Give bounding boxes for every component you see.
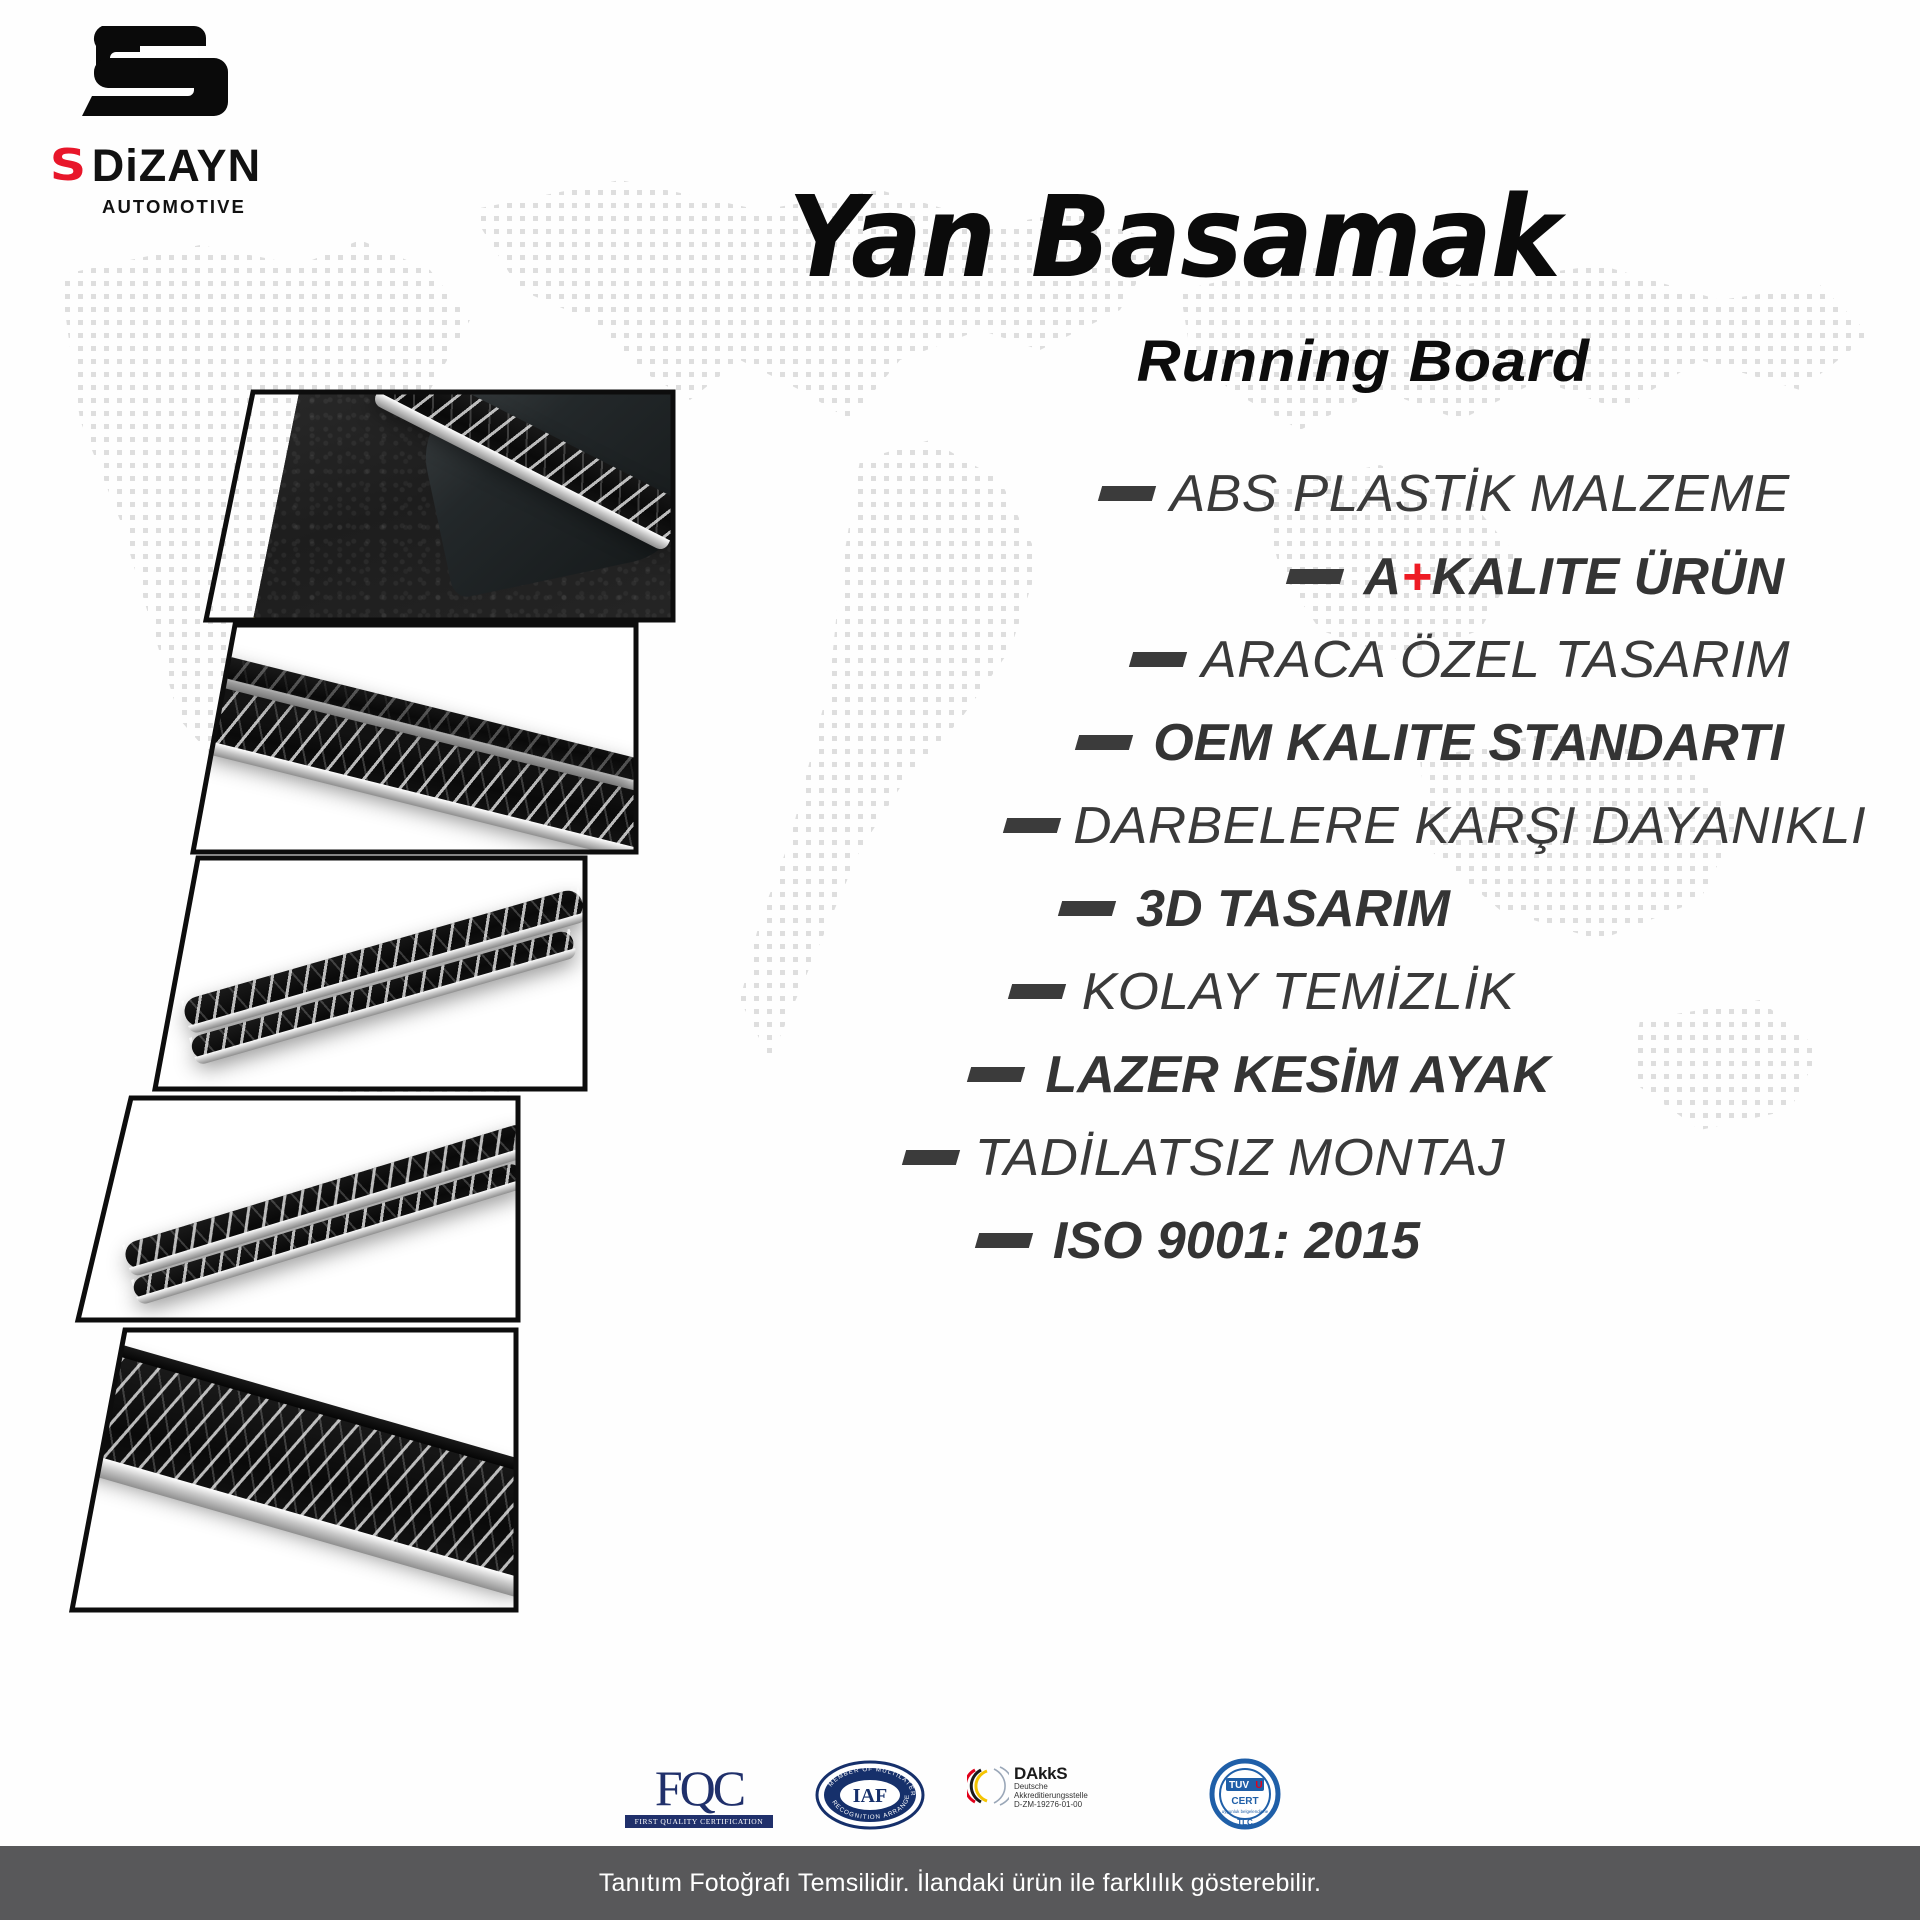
dakks-certification-logo: DAkkS Deutsche Akkreditierungsstelle D-Z… [967,1764,1157,1826]
feature-item: A+KALITE ÜRÜN [0,535,1880,618]
fqc-letters: FQC [625,1763,773,1813]
svg-text:CERT: CERT [1231,1796,1258,1807]
brand-s-letter: S [50,144,84,188]
svg-text:uygunluk belgelendirme: uygunluk belgelendirme [1222,1809,1269,1814]
feature-label: OEM KALITE STANDARTI [1153,717,1784,769]
feature-item: KOLAY TEMİZLİK [0,950,1880,1033]
dakks-letters: DAkkS [1014,1764,1088,1783]
svg-text:IAF: IAF [853,1785,887,1807]
svg-text:TUV: TUV [1229,1780,1249,1791]
dakks-line3: D-ZM-19276-01-00 [1014,1801,1088,1810]
bullet-dash-icon [1008,984,1066,999]
bullet-dash-icon [1129,652,1187,667]
fqc-caption: FIRST QUALITY CERTIFICATION [625,1815,773,1828]
tuv-certification-logo: TUV U CERT uygunluk belgelendirme TLC [1199,1758,1295,1832]
page-subtitle: Running Board [0,333,1590,391]
svg-text:U: U [1255,1780,1262,1791]
feature-item: DARBELERE KARŞI DAYANIKLI [0,784,1880,867]
bullet-dash-icon [1285,569,1343,584]
feature-label: DARBELERE KARŞI DAYANIKLI [1073,800,1866,852]
certification-logos: FQC FIRST QUALITY CERTIFICATION IAF MEMB… [0,1758,1920,1832]
feature-item: LAZER KESİM AYAK [0,1033,1880,1116]
plus-highlight: + [1401,548,1431,606]
feature-item: ISO 9001: 2015 [0,1199,1880,1282]
bullet-dash-icon [967,1067,1025,1082]
feature-label: ABS PLASTİK MALZEME [1170,468,1790,520]
feature-label: KOLAY TEMİZLİK [1082,966,1515,1018]
footer-disclaimer-text: Tanıtım Fotoğrafı Temsilidir. İlandaki ü… [599,1869,1321,1898]
bullet-dash-icon [1098,486,1156,501]
bullet-dash-icon [902,1150,960,1165]
feature-label: ISO 9001: 2015 [1053,1215,1420,1267]
product-photo-5 [72,1330,516,1610]
poster-canvas: S DiZAYN AUTOMOTIVE Yan Basamak Running … [0,0,1920,1920]
feature-item: TADİLATSIZ MONTAJ [0,1116,1880,1199]
svg-text:TLC: TLC [1237,1818,1253,1827]
feature-label: TADİLATSIZ MONTAJ [975,1132,1505,1184]
feature-item: OEM KALITE STANDARTI [0,701,1880,784]
s-dizayn-logo-mark-icon [58,18,258,138]
bullet-dash-icon [975,1233,1033,1248]
fqc-certification-logo: FQC FIRST QUALITY CERTIFICATION [625,1759,773,1831]
feature-label: 3D TASARIM [1136,883,1450,935]
iaf-certification-logo: IAF MEMBER OF MULTILATERAL RECOGNITION A… [815,1760,925,1830]
footer-disclaimer-bar: Tanıtım Fotoğrafı Temsilidir. İlandaki ü… [0,1846,1920,1920]
feature-item: 3D TASARIM [0,867,1880,950]
dakks-arc-icon [967,1764,1009,1808]
page-title: Yan Basamak [94,182,1560,294]
feature-label: ARACA ÖZEL TASARIM [1201,634,1790,686]
feature-list: ABS PLASTİK MALZEME A+KALITE ÜRÜN ARACA … [0,452,1880,1282]
feature-item: ABS PLASTİK MALZEME [0,452,1880,535]
feature-label: LAZER KESİM AYAK [1045,1049,1550,1101]
feature-item: ARACA ÖZEL TASARIM [0,618,1880,701]
bullet-dash-icon [1002,818,1060,833]
bullet-dash-icon [1075,735,1133,750]
feature-label: A+KALITE ÜRÜN [1364,551,1784,603]
bullet-dash-icon [1058,901,1116,916]
